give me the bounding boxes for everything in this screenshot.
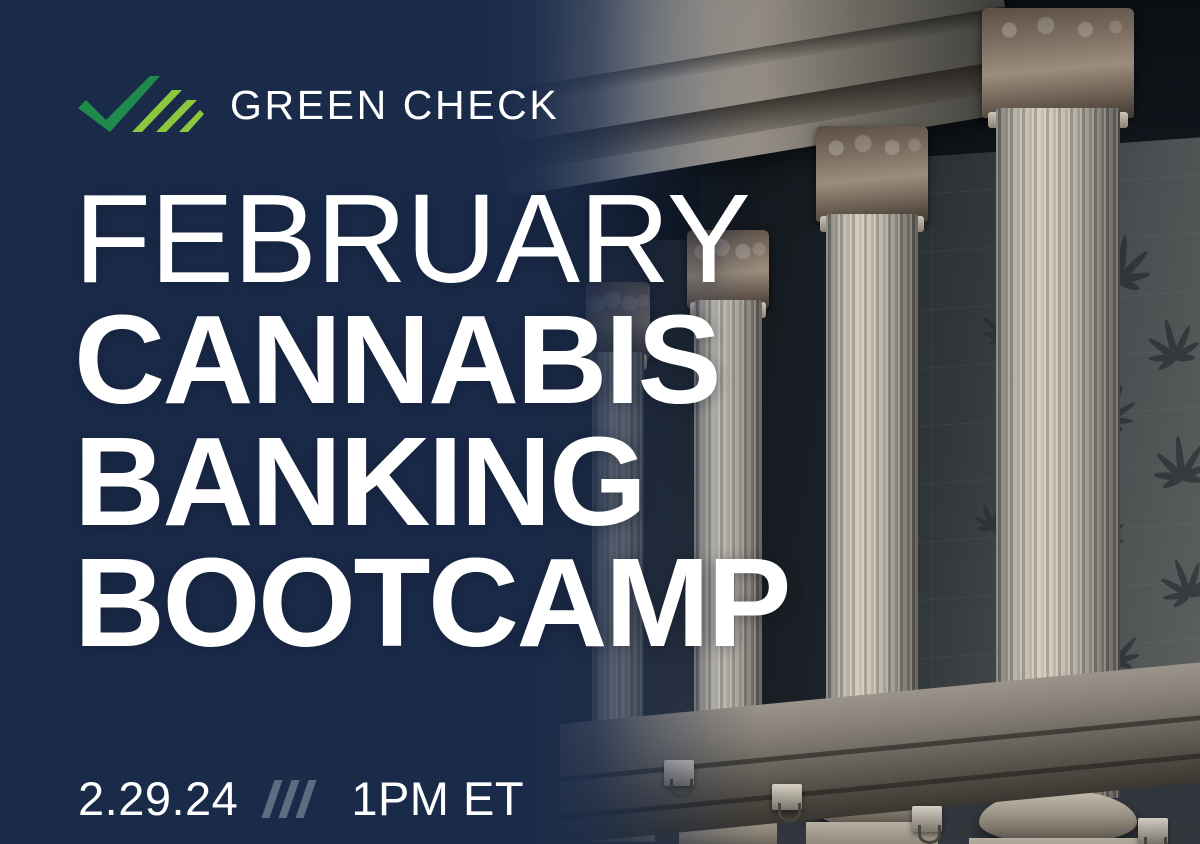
headline-line-2: CANNABIS bbox=[74, 303, 789, 416]
brand-logo-lockup: GREEN CHECK bbox=[76, 74, 559, 136]
event-date: 2.29.24 bbox=[78, 775, 238, 822]
headline-block: FEBRUARY CANNABIS BANKING BOOTCAMP bbox=[74, 182, 789, 660]
event-datetime-bar: 2.29.24 1PM ET bbox=[78, 775, 524, 822]
poster-content: GREEN CHECK FEBRUARY CANNABIS BANKING BO… bbox=[0, 0, 1200, 844]
green-check-logo-icon bbox=[76, 74, 204, 136]
headline-line-1: FEBRUARY bbox=[74, 182, 789, 295]
headline-line-4: BOOTCAMP bbox=[74, 546, 789, 659]
event-promo-poster: GREEN CHECK FEBRUARY CANNABIS BANKING BO… bbox=[0, 0, 1200, 844]
brand-wordmark: GREEN CHECK bbox=[230, 85, 559, 126]
event-time: 1PM ET bbox=[351, 775, 524, 822]
headline-line-3: BANKING bbox=[74, 425, 789, 538]
triple-slash-icon bbox=[268, 780, 319, 818]
